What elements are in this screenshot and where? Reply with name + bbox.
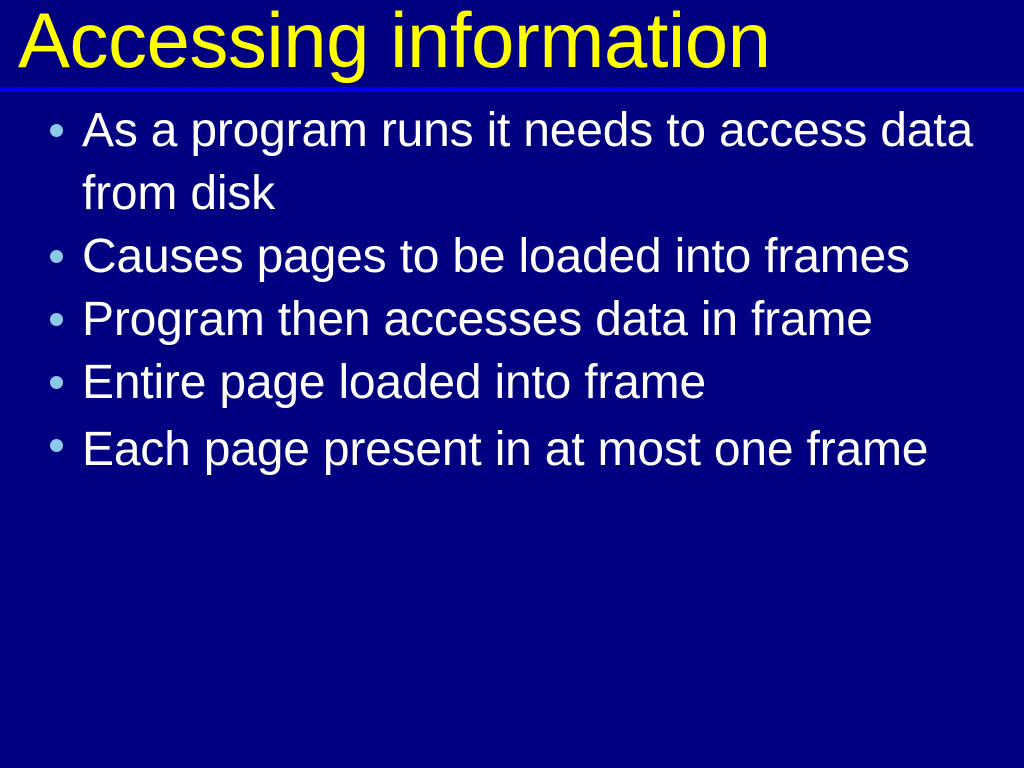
list-item: Each page present in at most one frame — [0, 414, 1024, 485]
list-item: Program then accesses data in frame — [0, 288, 1024, 351]
list-item-label: Entire page loaded into frame — [82, 351, 994, 414]
list-item: Causes pages to be loaded into frames — [0, 225, 1024, 288]
presentation-slide: Accessing information As a program runs … — [0, 0, 1024, 768]
list-item-label: As a program runs it needs to access dat… — [82, 99, 994, 225]
bullet-dot-icon — [50, 313, 63, 326]
list-item-label: Each page present in at most one frame — [82, 414, 994, 485]
slide-body-area: As a program runs it needs to access dat… — [0, 99, 1024, 759]
list-item: Entire page loaded into frame — [0, 351, 1024, 414]
title-divider — [0, 87, 1024, 92]
bullet-dot-icon — [50, 124, 63, 137]
list-item-label: Causes pages to be loaded into frames — [82, 225, 994, 288]
bullet-dot-icon — [50, 250, 63, 263]
bullet-list: As a program runs it needs to access dat… — [0, 99, 1024, 485]
page-title: Accessing information — [18, 0, 771, 86]
list-item: As a program runs it needs to access dat… — [0, 99, 1024, 225]
slide-title-area: Accessing information — [0, 0, 1024, 87]
bullet-dot-icon — [50, 439, 63, 452]
bullet-dot-icon — [50, 376, 63, 389]
list-item-label: Program then accesses data in frame — [82, 288, 994, 351]
